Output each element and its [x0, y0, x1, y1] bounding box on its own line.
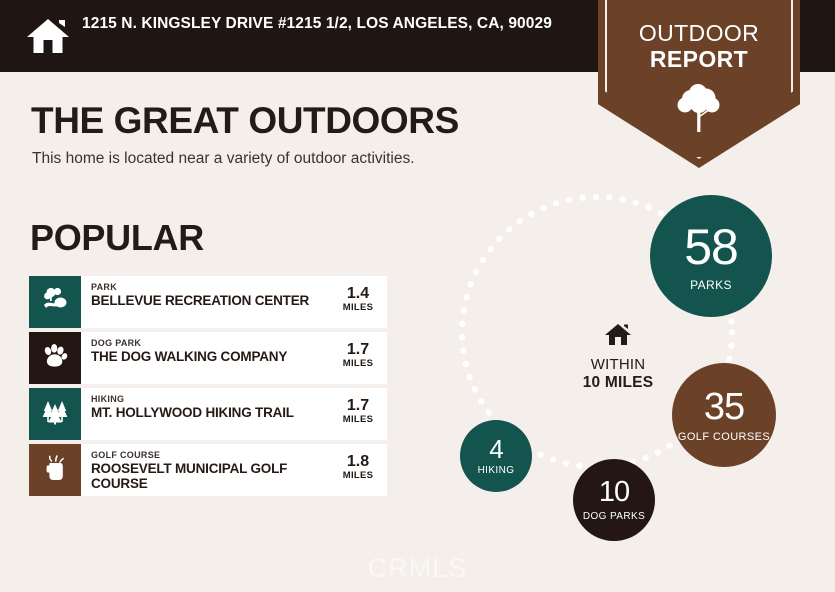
stat-value: 10 [599, 478, 629, 507]
poi-name: MT. HOLLYWOOD HIKING TRAIL [91, 405, 325, 420]
watermark: CRMLS [0, 553, 835, 584]
poi-distance-value: 1.7 [329, 341, 387, 358]
center-marker: WITHIN 10 MILES [558, 322, 678, 392]
shield-title: OUTDOOR REPORT [598, 20, 800, 72]
paw-icon [40, 341, 70, 376]
poi-distance-value: 1.8 [329, 453, 387, 470]
list-item[interactable]: GOLF COURSE ROOSEVELT MUNICIPAL GOLF COU… [29, 444, 387, 496]
stat-label: PARKS [690, 279, 732, 291]
home-icon [604, 322, 632, 348]
poi-distance-unit: MILES [329, 358, 387, 369]
poi-distance-unit: MILES [329, 470, 387, 481]
pine-trees-icon [40, 397, 70, 432]
poi-name: ROOSEVELT MUNICIPAL GOLF COURSE [91, 461, 325, 491]
poi-distance-value: 1.7 [329, 397, 387, 414]
poi-category: HIKING [91, 394, 325, 405]
poi-name: THE DOG WALKING COMPANY [91, 349, 325, 364]
popular-list: PARK BELLEVUE RECREATION CENTER 1.4 MILE… [29, 276, 387, 500]
poi-category: DOG PARK [91, 338, 325, 349]
stat-value: 58 [684, 222, 738, 272]
poi-distance: 1.7 MILES [329, 388, 387, 440]
poi-distance: 1.7 MILES [329, 332, 387, 384]
home-icon [26, 14, 70, 58]
poi-icon-tile [29, 444, 81, 496]
header-address: 1215 N. KINGSLEY DRIVE #1215 1/2, LOS AN… [82, 13, 552, 35]
park-icon [40, 285, 70, 320]
poi-icon-tile [29, 388, 81, 440]
poi-text: PARK BELLEVUE RECREATION CENTER [81, 276, 329, 328]
list-item[interactable]: PARK BELLEVUE RECREATION CENTER 1.4 MILE… [29, 276, 387, 328]
page-title: THE GREAT OUTDOORS [31, 100, 459, 142]
poi-name: BELLEVUE RECREATION CENTER [91, 293, 325, 308]
tree-icon [675, 82, 723, 134]
stat-value: 4 [489, 436, 502, 462]
stat-circle-dog-parks[interactable]: 10 DOG PARKS [573, 459, 655, 541]
stat-circle-golf-courses[interactable]: 35 GOLF COURSES [672, 363, 776, 467]
poi-category: PARK [91, 282, 325, 293]
list-item[interactable]: DOG PARK THE DOG WALKING COMPANY 1.7 MIL… [29, 332, 387, 384]
poi-icon-tile [29, 332, 81, 384]
stat-value: 35 [704, 388, 744, 426]
shield-title-line2: REPORT [598, 46, 800, 72]
stat-label: GOLF COURSES [678, 431, 770, 443]
center-within-label: WITHIN [558, 356, 678, 374]
poi-text: HIKING MT. HOLLYWOOD HIKING TRAIL [81, 388, 329, 440]
poi-distance: 1.8 MILES [329, 444, 387, 496]
poi-text: GOLF COURSE ROOSEVELT MUNICIPAL GOLF COU… [81, 444, 329, 496]
poi-distance-value: 1.4 [329, 285, 387, 302]
popular-heading: POPULAR [30, 217, 204, 259]
list-item[interactable]: HIKING MT. HOLLYWOOD HIKING TRAIL 1.7 MI… [29, 388, 387, 440]
stat-circle-hiking[interactable]: 4 HIKING [460, 420, 532, 492]
poi-category: GOLF COURSE [91, 450, 325, 461]
page-subtitle: This home is located near a variety of o… [32, 150, 415, 168]
stat-circle-parks[interactable]: 58 PARKS [650, 195, 772, 317]
outdoor-report-badge: OUTDOOR REPORT [598, 0, 800, 168]
center-distance-label: 10 MILES [558, 374, 678, 392]
poi-distance-unit: MILES [329, 414, 387, 425]
stat-label: DOG PARKS [583, 511, 645, 522]
golf-bag-icon [40, 453, 70, 488]
poi-distance: 1.4 MILES [329, 276, 387, 328]
shield-title-line1: OUTDOOR [598, 20, 800, 46]
poi-icon-tile [29, 276, 81, 328]
amenities-diagram: 58 PARKS 35 GOLF COURSES 10 DOG PARKS 4 … [430, 175, 830, 575]
poi-text: DOG PARK THE DOG WALKING COMPANY [81, 332, 329, 384]
poi-distance-unit: MILES [329, 302, 387, 313]
stat-label: HIKING [478, 466, 515, 476]
